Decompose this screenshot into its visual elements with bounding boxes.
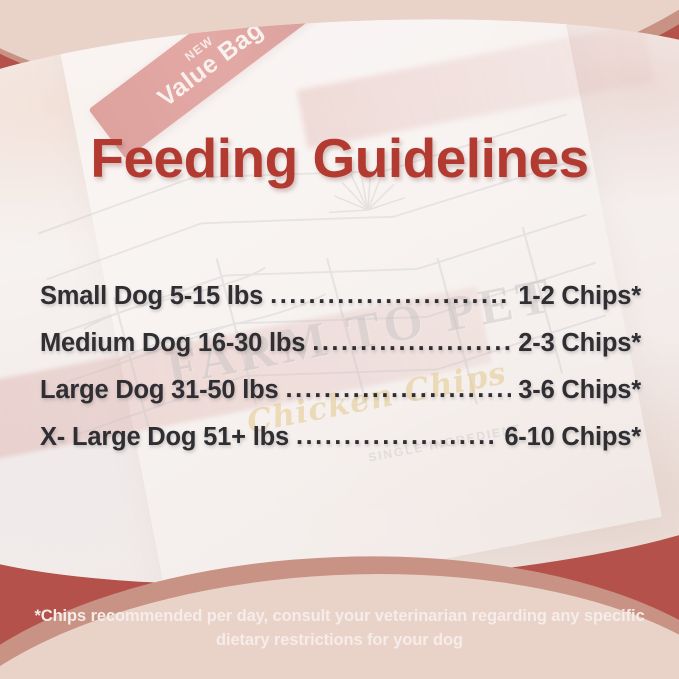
guideline-row-leader: ........................................… <box>286 375 512 404</box>
feeding-guidelines-poster: NEW Value Bag FARM TO PET Chicken Chips … <box>0 0 679 679</box>
guideline-row-label: Medium Dog 16-30 lbs <box>40 329 305 358</box>
guideline-row-leader: ........................................… <box>270 281 511 310</box>
footnote-text: *Chips recommended per day, consult your… <box>0 605 679 653</box>
guideline-row-value: 1-2 Chips* <box>518 282 641 311</box>
guideline-row-label: Small Dog 5-15 lbs <box>40 282 263 311</box>
guideline-row: Large Dog 31-50 lbs ....................… <box>40 376 641 423</box>
page-title: Feeding Guidelines <box>0 126 679 190</box>
guideline-row-label: X- Large Dog 51+ lbs <box>40 423 289 452</box>
guideline-row-leader: ........................................… <box>296 422 497 451</box>
guideline-row: Medium Dog 16-30 lbs ...................… <box>40 329 641 376</box>
feeding-guidelines-list: Small Dog 5-15 lbs .....................… <box>40 282 641 470</box>
guideline-row-value: 2-3 Chips* <box>518 329 641 358</box>
guideline-row-value: 6-10 Chips* <box>504 423 641 452</box>
guideline-row-value: 3-6 Chips* <box>518 376 641 405</box>
guideline-row: Small Dog 5-15 lbs .....................… <box>40 282 641 329</box>
guideline-row-leader: ........................................… <box>312 328 511 357</box>
poster-content: Feeding Guidelines Small Dog 5-15 lbs ..… <box>0 0 679 679</box>
guideline-row-label: Large Dog 31-50 lbs <box>40 376 279 405</box>
guideline-row: X- Large Dog 51+ lbs ...................… <box>40 423 641 470</box>
